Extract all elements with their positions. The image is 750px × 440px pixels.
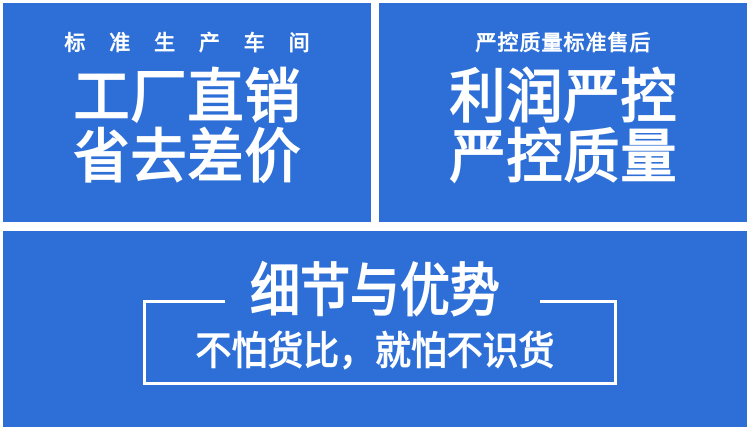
panel-details-advantages-title: 细节与优势 — [18, 261, 732, 323]
panel-factory-direct-eyebrow: 标 准 生 产 车 间 — [55, 33, 318, 54]
promo-banner: 标 准 生 产 车 间 工厂直销 省去差价 严控质量标准售后 利润严控 严控质量… — [0, 0, 750, 440]
panel-factory-direct: 标 准 生 产 车 间 工厂直销 省去差价 — [3, 3, 371, 222]
panel-quality-control-headline-line1: 利润严控 — [449, 65, 678, 129]
panel-quality-control: 严控质量标准售后 利润严控 严控质量 — [379, 3, 747, 222]
panel-quality-control-headline-line2: 严控质量 — [449, 125, 678, 189]
frame-bottom-segment — [143, 382, 617, 385]
panel-factory-direct-headline-line1: 工厂直销 — [73, 65, 302, 129]
panel-details-advantages-subtitle: 不怕货比，就怕不识货 — [14, 330, 736, 375]
panel-quality-control-eyebrow: 严控质量标准售后 — [475, 33, 652, 54]
panel-details-advantages: 细节与优势 不怕货比，就怕不识货 — [3, 231, 747, 427]
panel-factory-direct-headline-line2: 省去差价 — [73, 125, 302, 189]
